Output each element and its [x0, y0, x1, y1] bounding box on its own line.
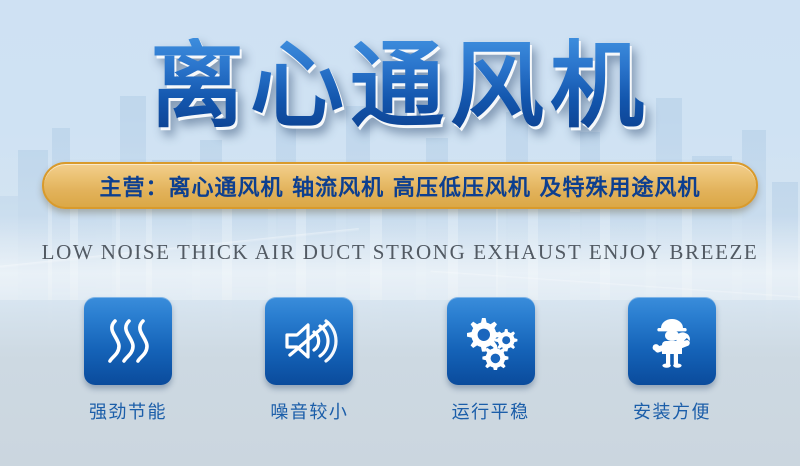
subtitle-banner-text: 主营：离心通风机 轴流风机 高压低压风机 及特殊用途风机: [100, 170, 701, 202]
page-title: 离心通风机: [0, 38, 800, 137]
muted-speaker-icon: [265, 297, 353, 385]
gears-icon: [447, 297, 535, 385]
english-tagline: LOW NOISE THICK AIR DUCT STRONG EXHAUST …: [0, 240, 800, 265]
feature-label: 安装方便: [633, 398, 711, 424]
worker-wrench-icon: [628, 297, 716, 385]
feature-item-low-noise[interactable]: 噪音较小: [241, 297, 377, 424]
airflow-waves-icon: [84, 297, 172, 385]
product-banner: 离心通风机 主营：离心通风机 轴流风机 高压低压风机 及特殊用途风机 LOW N…: [0, 0, 800, 466]
feature-item-stable-operation[interactable]: 运行平稳: [423, 297, 559, 424]
feature-label: 运行平稳: [452, 398, 530, 424]
feature-label: 强劲节能: [89, 398, 167, 424]
feature-list: 强劲节能 噪音较小: [60, 297, 740, 424]
subtitle-banner: 主营：离心通风机 轴流风机 高压低压风机 及特殊用途风机: [42, 162, 758, 209]
feature-item-easy-installation[interactable]: 安装方便: [604, 297, 740, 424]
feature-item-energy-saving[interactable]: 强劲节能: [60, 297, 196, 424]
feature-label: 噪音较小: [270, 398, 348, 424]
page-title-text: 离心通风机: [150, 38, 650, 137]
